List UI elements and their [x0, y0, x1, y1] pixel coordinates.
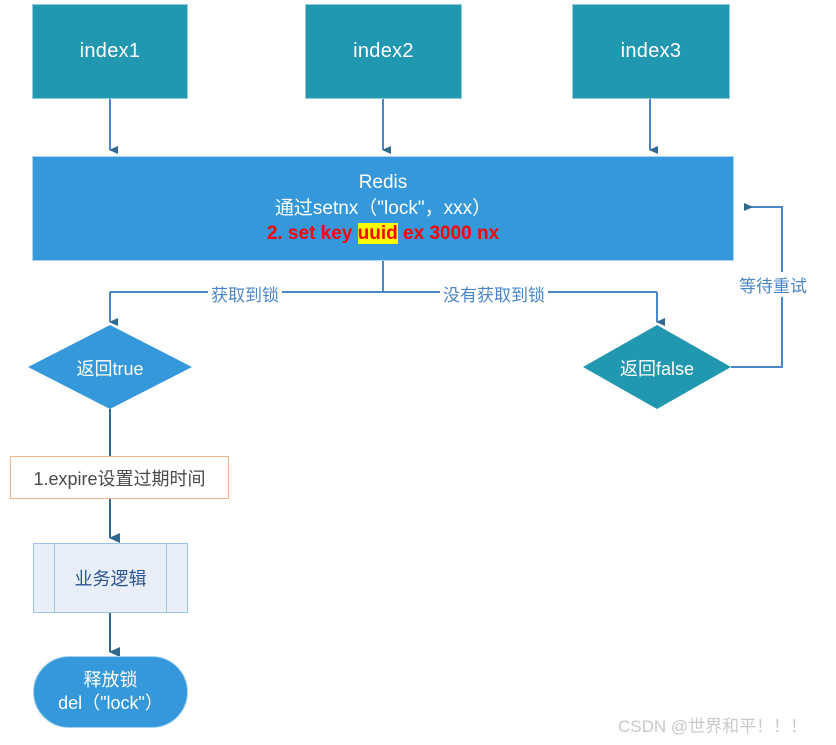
release-lock-command: del（"lock"） — [58, 692, 163, 715]
expire-step-node[interactable]: 1.expire设置过期时间 — [10, 456, 229, 499]
redis-set-suffix: ex 3000 nx — [398, 223, 499, 244]
client-label: index1 — [80, 40, 141, 63]
code-line-1: if ( get("lock") ==uuid ) { — [190, 717, 425, 745]
business-logic-node[interactable]: 业务逻辑 — [33, 543, 188, 613]
redis-setnx-text: 通过setnx（"lock"，xxx） — [275, 196, 491, 221]
redis-node[interactable]: Redis 通过setnx（"lock"，xxx） 2. set key uui… — [32, 156, 734, 261]
client-label: index2 — [353, 40, 414, 63]
expire-step-label: 1.expire设置过期时间 — [33, 465, 205, 491]
predefined-process-left-bar — [54, 544, 55, 612]
redis-title: Redis — [359, 170, 408, 195]
edge-label-retry: 等待重试 — [736, 272, 810, 297]
business-logic-label: 业务逻辑 — [75, 565, 147, 591]
release-lock-title: 释放锁 — [84, 669, 138, 692]
client-node-index1[interactable]: index1 — [32, 4, 188, 99]
flowchart-canvas: index1 index2 index3 Redis 通过setnx（"lock… — [0, 0, 836, 745]
edge-label-acquired: 获取到锁 — [208, 281, 282, 306]
predefined-process-right-bar — [166, 544, 167, 612]
csdn-watermark: CSDN @世界和平！！！ — [618, 712, 807, 737]
client-label: index3 — [621, 40, 682, 63]
client-node-index3[interactable]: index3 — [572, 4, 730, 99]
redis-set-uuid: uuid — [358, 223, 398, 244]
code-snippet: if ( get("lock") ==uuid ) { del("lock");… — [190, 660, 425, 745]
redis-set-command: 2. set key uuid ex 3000 nx — [267, 221, 499, 246]
release-lock-node[interactable]: 释放锁 del（"lock"） — [33, 656, 188, 728]
redis-set-prefix: 2. set key — [267, 223, 358, 244]
edge-label-not-acquired: 没有获取到锁 — [440, 281, 548, 306]
decision-true-shape — [28, 325, 192, 409]
client-node-index2[interactable]: index2 — [305, 4, 462, 99]
decision-false-shape — [583, 325, 731, 409]
connector-layer — [0, 0, 836, 745]
